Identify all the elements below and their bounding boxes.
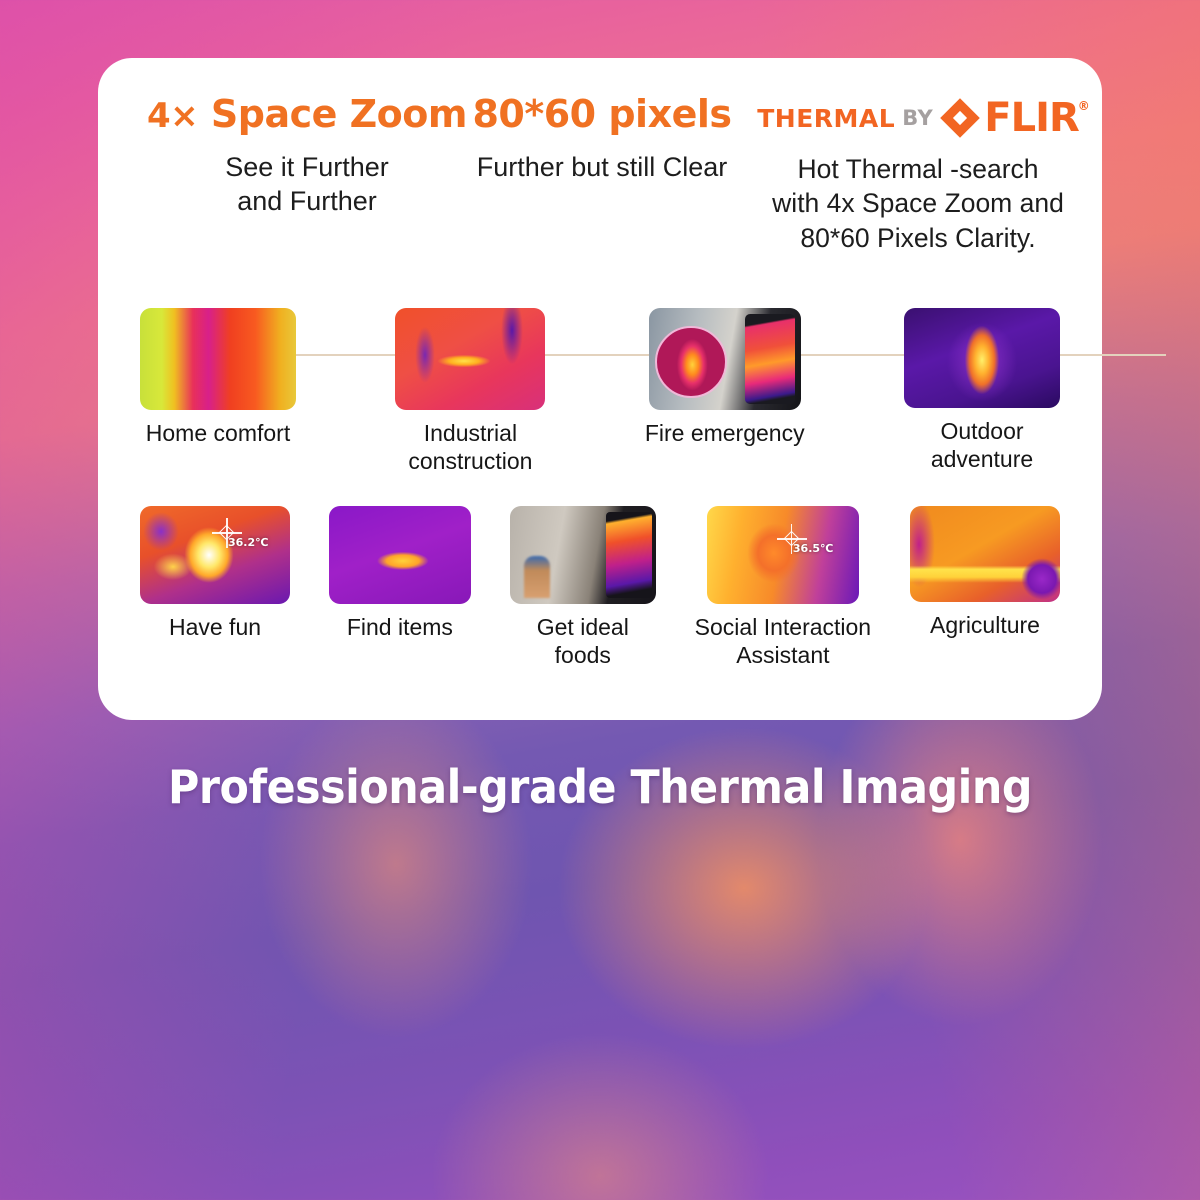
caption-social-interaction: Social Interaction Assistant <box>695 613 871 669</box>
spec-cards: Thermal Resolution 80*60 pixels Horizont… <box>0 868 1200 1158</box>
foods-phone-screen <box>606 512 652 598</box>
thumb-have-fun: 36.2℃ <box>140 506 290 604</box>
thumb-fire-emergency <box>649 308 801 410</box>
caption-home-comfort: Home comfort <box>140 419 296 447</box>
flir-brand-text: FLIR® <box>984 95 1079 141</box>
thumb-outdoor <box>904 308 1060 408</box>
temp-readout-have-fun: 36.2℃ <box>228 536 268 549</box>
caption-find-items: Find items <box>329 613 471 641</box>
caption-outdoor: Outdoor adventure <box>904 417 1060 473</box>
space-zoom-subtitle: See it Further and Further <box>142 150 472 219</box>
use-case-have-fun: 36.2℃ Have fun <box>140 506 290 669</box>
section-heading: Professional-grade Thermal Imaging <box>42 760 1158 814</box>
fire-zoom-circle <box>655 326 727 398</box>
use-case-home-comfort: Home comfort <box>140 308 296 475</box>
space-zoom-kicker: 4× Space Zoom <box>142 94 472 136</box>
pixels-subtitle: Further but still Clear <box>442 150 762 185</box>
header-row: 4× Space Zoom See it Further and Further… <box>98 94 1102 324</box>
use-case-industrial: Industrial construction <box>395 308 545 475</box>
flir-logo: THERMAL BY FLIR® <box>738 96 1098 140</box>
thumb-find-items <box>329 506 471 604</box>
caption-get-ideal-foods: Get ideal foods <box>510 613 656 669</box>
caption-industrial: Industrial construction <box>395 419 545 475</box>
thumb-get-ideal-foods <box>510 506 656 604</box>
use-case-outdoor: Outdoor adventure <box>904 308 1060 475</box>
header-column-flir: THERMAL BY FLIR® Hot Thermal -search wit… <box>738 94 1098 255</box>
use-case-social-interaction: 36.5℃ Social Interaction Assistant <box>695 506 871 669</box>
use-case-row-1: Home comfort Industrial construction Fir… <box>140 308 1060 475</box>
thumb-industrial <box>395 308 545 410</box>
caption-have-fun: Have fun <box>140 613 290 641</box>
feature-card: 4× Space Zoom See it Further and Further… <box>98 58 1102 720</box>
use-case-get-ideal-foods: Get ideal foods <box>510 506 656 669</box>
zoom-multiplier: 4× <box>147 96 198 136</box>
caption-fire-emergency: Fire emergency <box>645 419 805 447</box>
foods-person <box>524 556 550 598</box>
space-zoom-label: Space Zoom <box>211 92 467 136</box>
use-case-row-2: 36.2℃ Have fun Find items Get ideal food… <box>140 506 1060 669</box>
header-column-space-zoom: 4× Space Zoom See it Further and Further <box>142 94 472 219</box>
temp-readout-social: 36.5℃ <box>793 542 833 555</box>
use-case-find-items: Find items <box>329 506 471 669</box>
flir-by-text: BY <box>902 106 933 130</box>
flir-subtitle: Hot Thermal -search with 4x Space Zoom a… <box>738 152 1098 255</box>
trademark-icon: ® <box>1078 99 1089 113</box>
thumb-social-interaction: 36.5℃ <box>707 506 859 604</box>
thumb-home-comfort <box>140 308 296 410</box>
header-column-pixels: 80*60 pixels Further but still Clear <box>442 94 762 184</box>
thumb-agriculture <box>910 506 1060 602</box>
flir-diamond-icon <box>943 101 977 135</box>
caption-agriculture: Agriculture <box>910 611 1060 639</box>
fire-phone-screen <box>745 314 795 404</box>
use-case-fire-emergency: Fire emergency <box>645 308 805 475</box>
flir-thermal-text: THERMAL <box>757 104 895 133</box>
pixels-kicker: 80*60 pixels <box>442 94 762 136</box>
use-case-agriculture: Agriculture <box>910 506 1060 669</box>
